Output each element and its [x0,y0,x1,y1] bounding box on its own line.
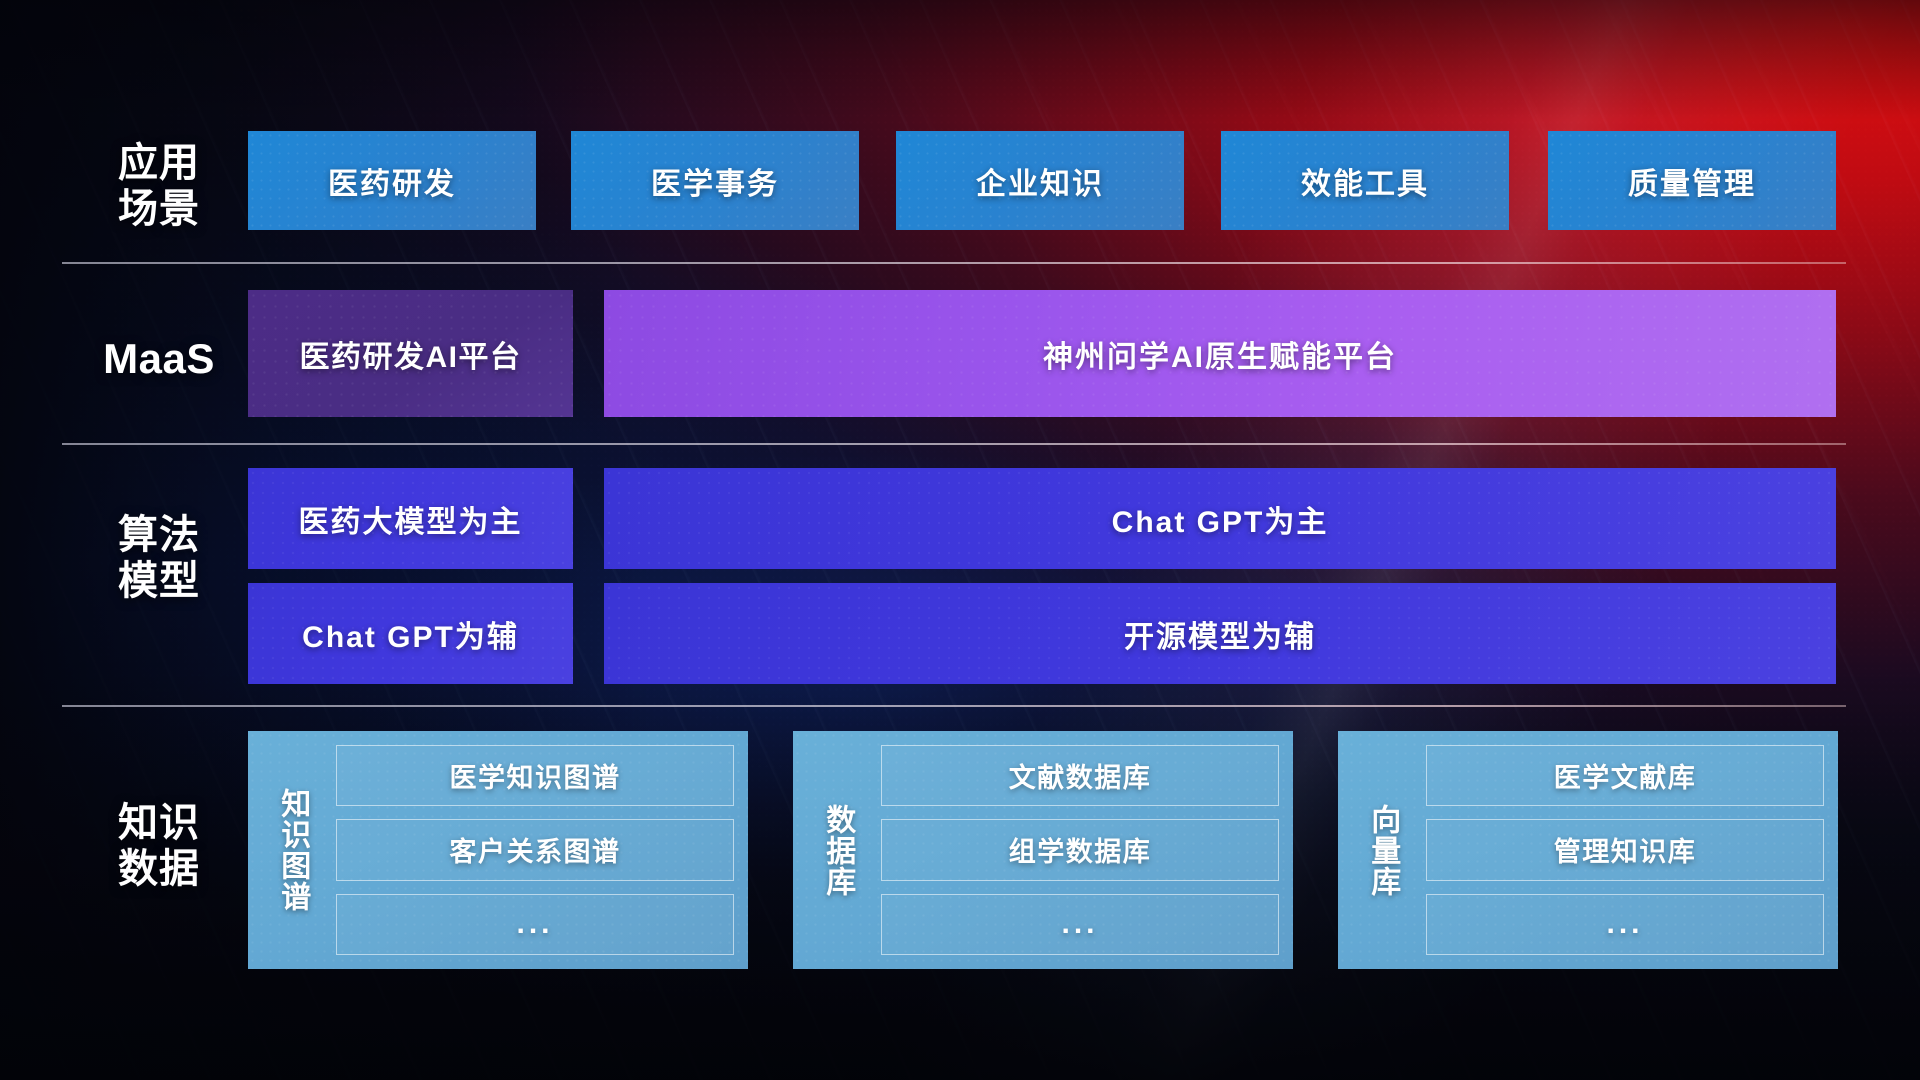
diagram-content: 应用 场景 医药研发 医学事务 企业知识 效能工具 质量管理 MaaS 医药研发… [0,0,1920,1080]
knowledge-panel-title: 向量库 [1338,745,1426,955]
algo-box-chatgpt-primary[interactable]: Chat GPT为主 [604,468,1836,569]
maas-box-label: 神州问学AI原生赋能平台 [1043,332,1397,376]
knowledge-item[interactable]: 客户关系图谱 [336,819,734,880]
app-box-label: 企业知识 [976,159,1104,203]
row-label-application: 应用 场景 [84,140,234,233]
knowledge-panel-title: 数据库 [793,745,881,955]
knowledge-panel-title: 知识图谱 [248,745,336,955]
app-box-label: 效能工具 [1301,159,1429,203]
knowledge-panel-items: 医学文献库 管理知识库 ... [1426,745,1824,955]
separator-line-3 [62,705,1846,707]
app-box-enterprise-knowledge[interactable]: 企业知识 [896,131,1184,230]
knowledge-item-more[interactable]: ... [1426,894,1824,955]
app-box-label: 医学事务 [651,159,779,203]
row-label-algorithm: 算法 模型 [84,512,234,605]
algo-box-label: 医药大模型为主 [299,497,523,541]
maas-box-drug-ai-platform[interactable]: 医药研发AI平台 [248,290,573,417]
app-box-medical-affairs[interactable]: 医学事务 [571,131,859,230]
algo-box-drug-model-primary[interactable]: 医药大模型为主 [248,468,573,569]
algo-box-label: 开源模型为辅 [1124,612,1316,656]
knowledge-item[interactable]: 医学文献库 [1426,745,1824,806]
app-box-label: 医药研发 [328,159,456,203]
knowledge-item-more[interactable]: ... [881,894,1279,955]
app-box-label: 质量管理 [1628,159,1756,203]
algo-box-opensource-secondary[interactable]: 开源模型为辅 [604,583,1836,684]
app-box-efficiency-tools[interactable]: 效能工具 [1221,131,1509,230]
maas-box-label: 医药研发AI平台 [300,332,522,376]
row-label-maas: MaaS [84,335,234,384]
algo-box-label: Chat GPT为主 [1112,497,1329,541]
knowledge-panel-vector-store[interactable]: 向量库 医学文献库 管理知识库 ... [1338,731,1838,969]
knowledge-panel-items: 医学知识图谱 客户关系图谱 ... [336,745,734,955]
knowledge-item[interactable]: 组学数据库 [881,819,1279,880]
algo-box-chatgpt-secondary[interactable]: Chat GPT为辅 [248,583,573,684]
knowledge-panel-items: 文献数据库 组学数据库 ... [881,745,1279,955]
knowledge-item[interactable]: 管理知识库 [1426,819,1824,880]
architecture-diagram-slide: 应用 场景 医药研发 医学事务 企业知识 效能工具 质量管理 MaaS 医药研发… [0,0,1920,1080]
app-box-quality-management[interactable]: 质量管理 [1548,131,1836,230]
knowledge-item-more[interactable]: ... [336,894,734,955]
knowledge-panel-knowledge-graph[interactable]: 知识图谱 医学知识图谱 客户关系图谱 ... [248,731,748,969]
algo-box-label: Chat GPT为辅 [302,612,519,656]
maas-box-shenzhou-platform[interactable]: 神州问学AI原生赋能平台 [604,290,1836,417]
separator-line-1 [62,262,1846,264]
separator-line-2 [62,443,1846,445]
app-box-drug-rnd[interactable]: 医药研发 [248,131,536,230]
knowledge-item[interactable]: 医学知识图谱 [336,745,734,806]
row-label-knowledge: 知识 数据 [84,800,234,893]
knowledge-panel-database[interactable]: 数据库 文献数据库 组学数据库 ... [793,731,1293,969]
knowledge-item[interactable]: 文献数据库 [881,745,1279,806]
